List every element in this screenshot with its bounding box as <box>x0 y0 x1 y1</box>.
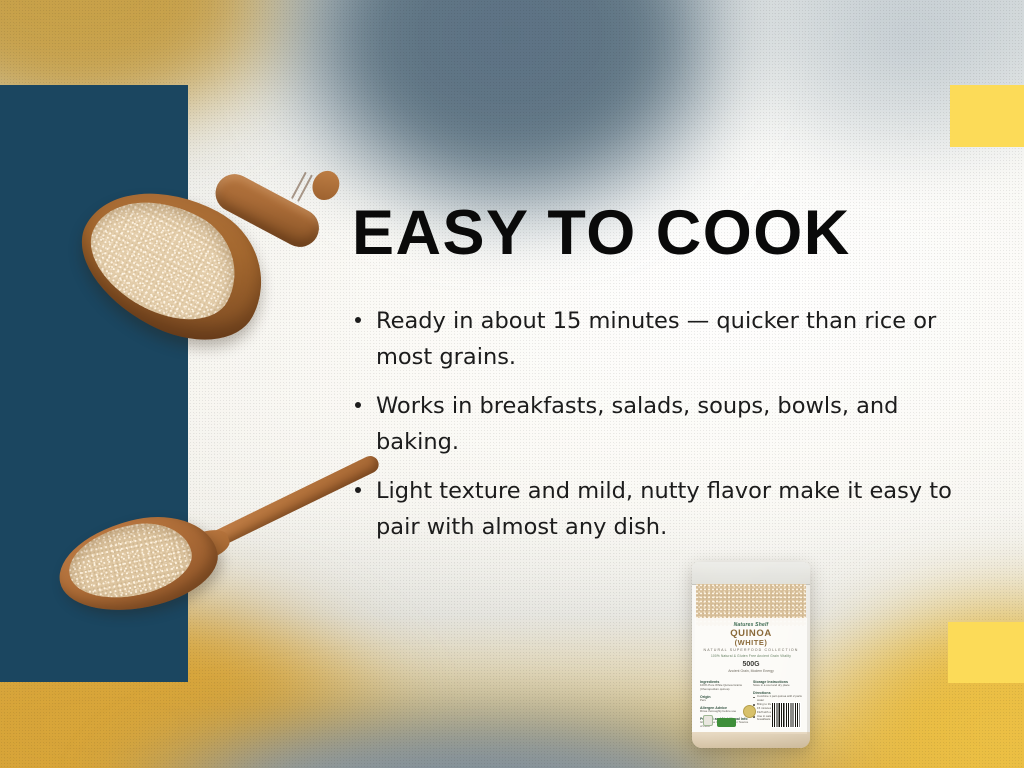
pouch-storage-body: Store in a cool and dry place <box>753 684 802 688</box>
slide-canvas: EASY TO COOK Ready in about 15 minutes —… <box>0 0 1024 768</box>
page-title: EASY TO COOK <box>352 200 982 266</box>
yellow-accent-bottom-right <box>948 622 1024 683</box>
list-item: Light texture and mild, nutty flavor mak… <box>352 474 982 545</box>
barcode-icon <box>771 702 801 728</box>
organic-seal-icon <box>743 705 756 718</box>
product-pouch-image: Natures Shelf QUINOA (WHITE) NATURAL SUP… <box>692 562 810 748</box>
vegan-badge-icon <box>717 718 736 727</box>
pouch-footer <box>699 700 803 732</box>
quinoa-spoon-image <box>48 468 368 628</box>
quinoa-scoop-image <box>69 144 326 353</box>
pouch-ingredients-body: 100% Pure White Quinoa Grains (Chenopodi… <box>700 684 749 692</box>
pouch-bottom-gusset <box>692 732 810 748</box>
pouch-label: Natures Shelf QUINOA (WHITE) NATURAL SUP… <box>695 618 807 734</box>
pouch-weight: 500G <box>700 661 802 668</box>
pouch-zip-seal <box>692 562 810 585</box>
pouch-tagline: 100% Natural & Gluten Free Ancient Grain… <box>700 654 802 658</box>
pouch-product-variant: (WHITE) <box>700 639 802 647</box>
list-item: Ready in about 15 minutes — quicker than… <box>352 304 982 375</box>
pouch-subtagline: Ancient Grain, Modern Energy <box>700 669 802 673</box>
list-item: Works in breakfasts, salads, soups, bowl… <box>352 389 982 460</box>
benefits-list: Ready in about 15 minutes — quicker than… <box>352 304 982 545</box>
pouch-collection: NATURAL SUPERFOOD COLLECTION <box>700 648 802 652</box>
scoop-handle-groove <box>297 174 313 201</box>
text-column: EASY TO COOK Ready in about 15 minutes —… <box>352 200 982 559</box>
yellow-accent-top-right <box>950 85 1024 147</box>
recyclable-badge-icon <box>703 715 713 726</box>
